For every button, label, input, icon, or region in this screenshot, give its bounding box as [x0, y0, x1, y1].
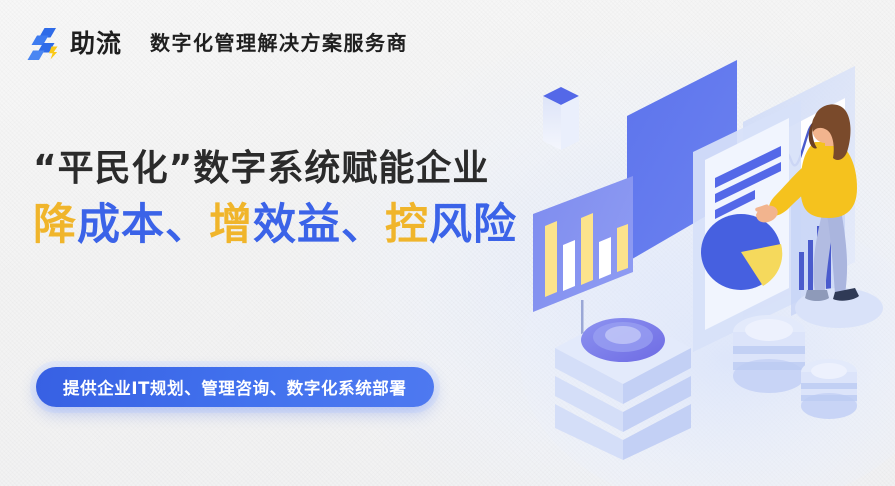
server-disc	[581, 318, 665, 362]
bar-chart-panel	[533, 176, 633, 358]
headline-part: 、	[341, 200, 385, 250]
small-cube	[543, 87, 579, 150]
headline-part: 、	[165, 200, 209, 250]
brand-name: 助流	[70, 31, 122, 56]
panel-text-lines	[715, 146, 781, 219]
headline-part: 降	[33, 200, 77, 250]
isometric-data-dashboard-illustration	[515, 0, 895, 486]
promo-banner: 助流 数字化管理解决方案服务商 “平民化”数字系统赋能企业 降成本、增效益、控风…	[0, 0, 895, 486]
neck	[825, 134, 839, 146]
database-small	[801, 359, 857, 419]
headline-part: 控	[385, 200, 429, 250]
database-cylinders	[733, 315, 857, 419]
mini-bar-chart	[791, 170, 845, 316]
hand	[754, 203, 780, 226]
server-stack	[555, 312, 691, 460]
shoe-back	[805, 290, 829, 301]
face	[812, 113, 838, 143]
figure-pedestal	[795, 288, 883, 328]
arm	[769, 158, 823, 216]
blue-screen-panel	[627, 60, 737, 262]
sweater	[801, 142, 857, 218]
pie-chart	[701, 214, 782, 290]
floor-glow	[520, 210, 895, 486]
panel-stand	[581, 300, 584, 358]
brand-tagline: 数字化管理解决方案服务商	[150, 33, 408, 53]
headline-part: 增	[209, 200, 253, 250]
pie-chart-panel	[693, 100, 801, 352]
logo-lightning-bolt-blocks-icon	[25, 24, 63, 62]
database-large	[733, 315, 805, 393]
headline-part: 成本	[77, 200, 165, 250]
headline-line1: “平民化”数字系统赋能企业	[33, 148, 517, 189]
leg-front	[827, 210, 847, 294]
headline-part: 效益	[253, 200, 341, 250]
wave-chart-panel	[743, 66, 855, 318]
headline-part: 风险	[429, 200, 517, 250]
woman-figure	[754, 104, 859, 301]
cta-pill-button[interactable]: 提供企业IT规划、管理咨询、数字化系统部署	[36, 367, 434, 407]
hair	[812, 104, 851, 160]
leg-back	[813, 210, 835, 292]
brand-header: 助流 数字化管理解决方案服务商	[25, 24, 408, 62]
headline-line2: 降成本、增效益、控风险	[33, 201, 517, 249]
shoe-front	[833, 288, 859, 301]
headline-block: “平民化”数字系统赋能企业 降成本、增效益、控风险	[33, 148, 517, 250]
